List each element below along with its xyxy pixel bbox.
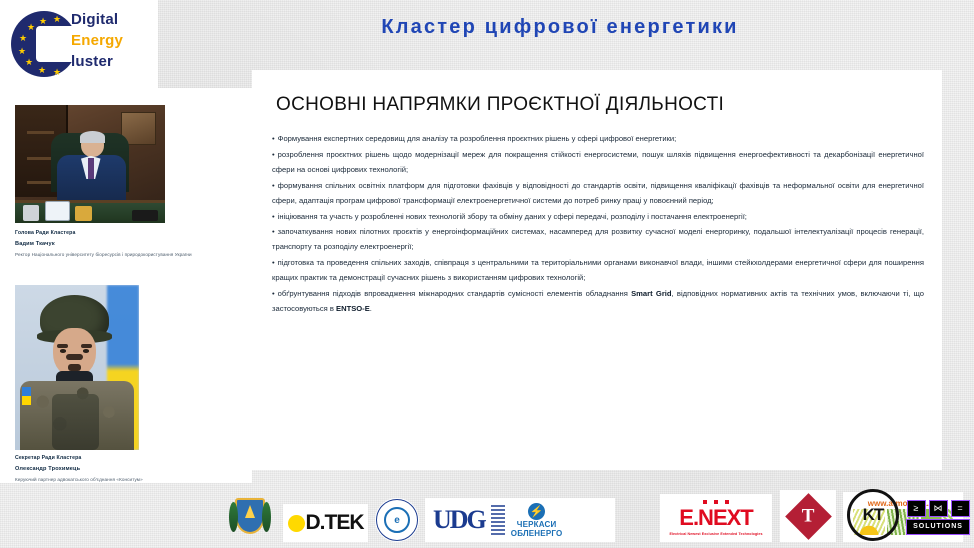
solutions-label: SOLUTIONS [906, 519, 970, 535]
secretary-photo [15, 285, 139, 450]
coat-of-arms-logo [228, 490, 272, 542]
bullet-marker: • [272, 289, 275, 298]
udg-label: UDG [433, 505, 485, 535]
kt-logo: KT [845, 488, 901, 542]
cluster-logo: ★ ★ ★ ★ ★ ★ ★ ★ Digital Energy luster [0, 0, 158, 88]
ornament-icon [491, 505, 505, 535]
list-item-standards: •обґрунтування підходів впровадження між… [272, 287, 924, 317]
institute-seal-logo: e [375, 498, 419, 542]
bullet-marker: • [272, 258, 275, 267]
seal-label: e [384, 507, 410, 533]
eu-star-icon: ★ [38, 66, 46, 75]
chairman-description: Ректор Національного університету біорес… [15, 252, 247, 257]
entso-e-term: ENTSO-E [336, 304, 370, 313]
list-item-text: започаткування нових пілотних проєктів у… [272, 227, 924, 251]
eu-star-icon: ★ [53, 68, 61, 77]
solutions-icon-3: = [951, 500, 970, 517]
list-item-text: ініціювання та участь у розробленні нови… [278, 212, 747, 221]
list-item-text: формування спільних освітніх платформ дл… [272, 181, 924, 205]
list-item-text: Формування експертних середовищ для анал… [278, 134, 677, 143]
logo-line-digital: Digital [71, 9, 149, 30]
list-item-text: розроблення проєктних рішень щодо модерн… [272, 150, 924, 174]
smart-grid-term: Smart Grid [631, 289, 671, 298]
t-diamond-logo: T [780, 490, 836, 542]
person-card-chairman: Голова Ради Кластера Вадим Ткачук Ректор… [0, 88, 252, 268]
cherkasy-line2: ОБЛЕНЕРГО [511, 529, 563, 538]
list-item: •започаткування нових пілотних проєктів … [272, 225, 924, 255]
t-label: T [802, 505, 815, 527]
panel-heading: ОСНОВНІ НАПРЯМКИ ПРОЄКТНОЇ ДІЯЛЬНОСТІ [276, 94, 724, 116]
bullet-marker: • [272, 134, 275, 143]
cherkasy-line1: ЧЕРКАСИ [517, 520, 557, 529]
eu-star-icon: ★ [25, 58, 33, 67]
list-item: •підготовка та проведення спільних заход… [272, 256, 924, 286]
content-panel: ОСНОВНІ НАПРЯМКИ ПРОЄКТНОЇ ДІЯЛЬНОСТІ •Ф… [252, 70, 942, 470]
secretary-description: Керуючий партнер адвокатського об'єднанн… [15, 477, 247, 482]
slide-title: Кластер цифрової енергетики [250, 16, 870, 39]
eu-star-icon: ★ [19, 34, 27, 43]
list-item: •ініціювання та участь у розробленні нов… [272, 210, 924, 225]
list-item-text: обґрунтування підходів впровадження міжн… [278, 289, 631, 298]
dtek-dot-icon [288, 515, 305, 532]
enext-logo: E.NEXT Electrical Newest Exclusive Exten… [660, 494, 772, 542]
secretary-name: Олександр Трохимець [15, 466, 80, 472]
solutions-icon-2: ⋈ [929, 500, 948, 517]
chairman-photo [15, 105, 165, 223]
bullet-list: •Формування експертних середовищ для ана… [272, 132, 924, 318]
person-card-secretary: Секретар Ради Кластера Олександр Трохиме… [0, 268, 252, 483]
list-item: •розроблення проєктних рішень щодо модер… [272, 148, 924, 178]
list-item: •Формування експертних середовищ для ана… [272, 132, 924, 147]
secretary-role: Секретар Ради Кластера [15, 455, 81, 461]
bullet-marker: • [272, 181, 275, 190]
eu-star-icon: ★ [39, 17, 47, 26]
list-item-text: . [370, 304, 372, 313]
bullet-marker: • [272, 227, 275, 236]
eu-star-icon: ★ [18, 47, 26, 56]
chairman-role: Голова Ради Кластера [15, 230, 75, 236]
partner-logos-bar: D.TEK e UDG ⚡ ЧЕРКАСИ ОБЛЕНЕРГО E.NEXT E… [0, 486, 974, 548]
slide-root: ★ ★ ★ ★ ★ ★ ★ ★ Digital Energy luster Кл… [0, 0, 974, 548]
solutions-logo: ≥ ⋈ = SOLUTIONS [905, 492, 971, 542]
dtek-logo: D.TEK [283, 504, 368, 542]
eu-star-icon: ★ [27, 23, 35, 32]
enext-tagline: Electrical Newest Exclusive Extended Tec… [669, 532, 762, 536]
logo-line-cluster: luster [71, 51, 149, 72]
kt-label: KT [847, 489, 899, 541]
eu-star-icon: ★ [53, 15, 61, 24]
list-item-text: підготовка та проведення спільних заході… [272, 258, 924, 282]
enext-label: E.NEXT [679, 505, 752, 531]
list-item: •формування спільних освітніх платформ д… [272, 179, 924, 209]
logo-line-energy: Energy [71, 30, 149, 51]
lightning-icon: ⚡ [528, 503, 545, 520]
chairman-name: Вадим Ткачук [15, 241, 55, 247]
bullet-marker: • [272, 150, 275, 159]
udg-cherkasy-logo-group: UDG ⚡ ЧЕРКАСИ ОБЛЕНЕРГО [425, 498, 615, 542]
solutions-icon-1: ≥ [907, 500, 926, 517]
dtek-label: D.TEK [306, 511, 364, 535]
bullet-marker: • [272, 212, 275, 221]
enext-dots-icon [703, 500, 729, 504]
